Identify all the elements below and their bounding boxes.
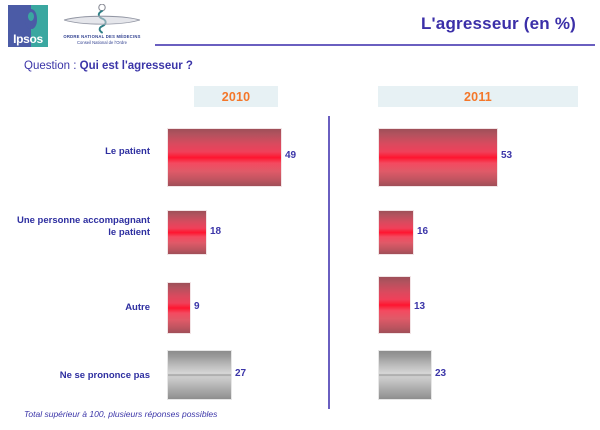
bar-2011-ne-se-prononce-pas [378, 350, 432, 400]
bar-2011-le-patient [378, 128, 498, 187]
chart-row: Le patient 49 53 [0, 110, 600, 180]
title-divider-rule [155, 44, 595, 46]
slide: Ipsos ORDRE NATIONAL DES MÉDECINS Consei… [0, 0, 600, 430]
ipsos-logo-wordmark: Ipsos [8, 33, 48, 46]
page-title: L'agresseur (en %) [421, 14, 576, 34]
cnom-logo: ORDRE NATIONAL DES MÉDECINS Conseil Nati… [56, 4, 148, 48]
bar-value-2011-autre: 13 [414, 301, 425, 312]
bar-value-2010-le-patient: 49 [285, 150, 296, 161]
row-label-line2: le patient [0, 227, 150, 239]
question-lead: Question : [24, 60, 80, 72]
chart-row: Ne se prononce pas 27 23 [0, 342, 600, 402]
bar-value-2010-accompagnant: 18 [210, 226, 221, 237]
bar-value-2011-accompagnant: 16 [417, 226, 428, 237]
caduceus-icon [56, 4, 148, 36]
bar-2010-accompagnant [167, 210, 207, 255]
row-label-ne-se-prononce-pas: Ne se prononce pas [0, 370, 150, 382]
cnom-logo-line2: Conseil National de l'Ordre [56, 40, 148, 45]
bar-2010-ne-se-prononce-pas [167, 350, 232, 400]
row-label-autre: Autre [0, 302, 150, 314]
footnote: Total supérieur à 100, plusieurs réponse… [24, 409, 217, 419]
row-label-line1: Une personne accompagnant [0, 215, 150, 227]
question-text: Qui est l'agresseur ? [80, 60, 193, 72]
bar-2010-autre [167, 282, 191, 334]
column-header-2011: 2011 [378, 86, 578, 107]
bar-value-2011-le-patient: 53 [501, 150, 512, 161]
bar-chart: Le patient 49 53 Une personne accompagna… [0, 110, 600, 400]
column-header-2010: 2010 [194, 86, 278, 107]
question-line: Question : Qui est l'agresseur ? [24, 60, 193, 72]
row-label-line1: Autre [125, 302, 150, 313]
bar-2011-accompagnant [378, 210, 414, 255]
row-label-accompagnant: Une personne accompagnant le patient [0, 215, 150, 239]
bar-value-2010-ne-se-prononce-pas: 27 [235, 368, 246, 379]
bar-value-2011-ne-se-prononce-pas: 23 [435, 368, 446, 379]
bar-2011-autre [378, 276, 411, 334]
row-label-le-patient: Le patient [0, 146, 150, 158]
chart-row: Autre 9 13 [0, 260, 600, 322]
chart-row: Une personne accompagnant le patient 18 … [0, 185, 600, 250]
row-label-line1: Le patient [105, 146, 150, 157]
ipsos-logo-head-dot [28, 12, 34, 21]
bar-value-2010-autre: 9 [194, 301, 200, 312]
ipsos-logo: Ipsos [8, 5, 48, 47]
bar-2010-le-patient [167, 128, 282, 187]
cnom-logo-line1: ORDRE NATIONAL DES MÉDECINS [56, 34, 148, 39]
row-label-line1: Ne se prononce pas [60, 370, 150, 381]
